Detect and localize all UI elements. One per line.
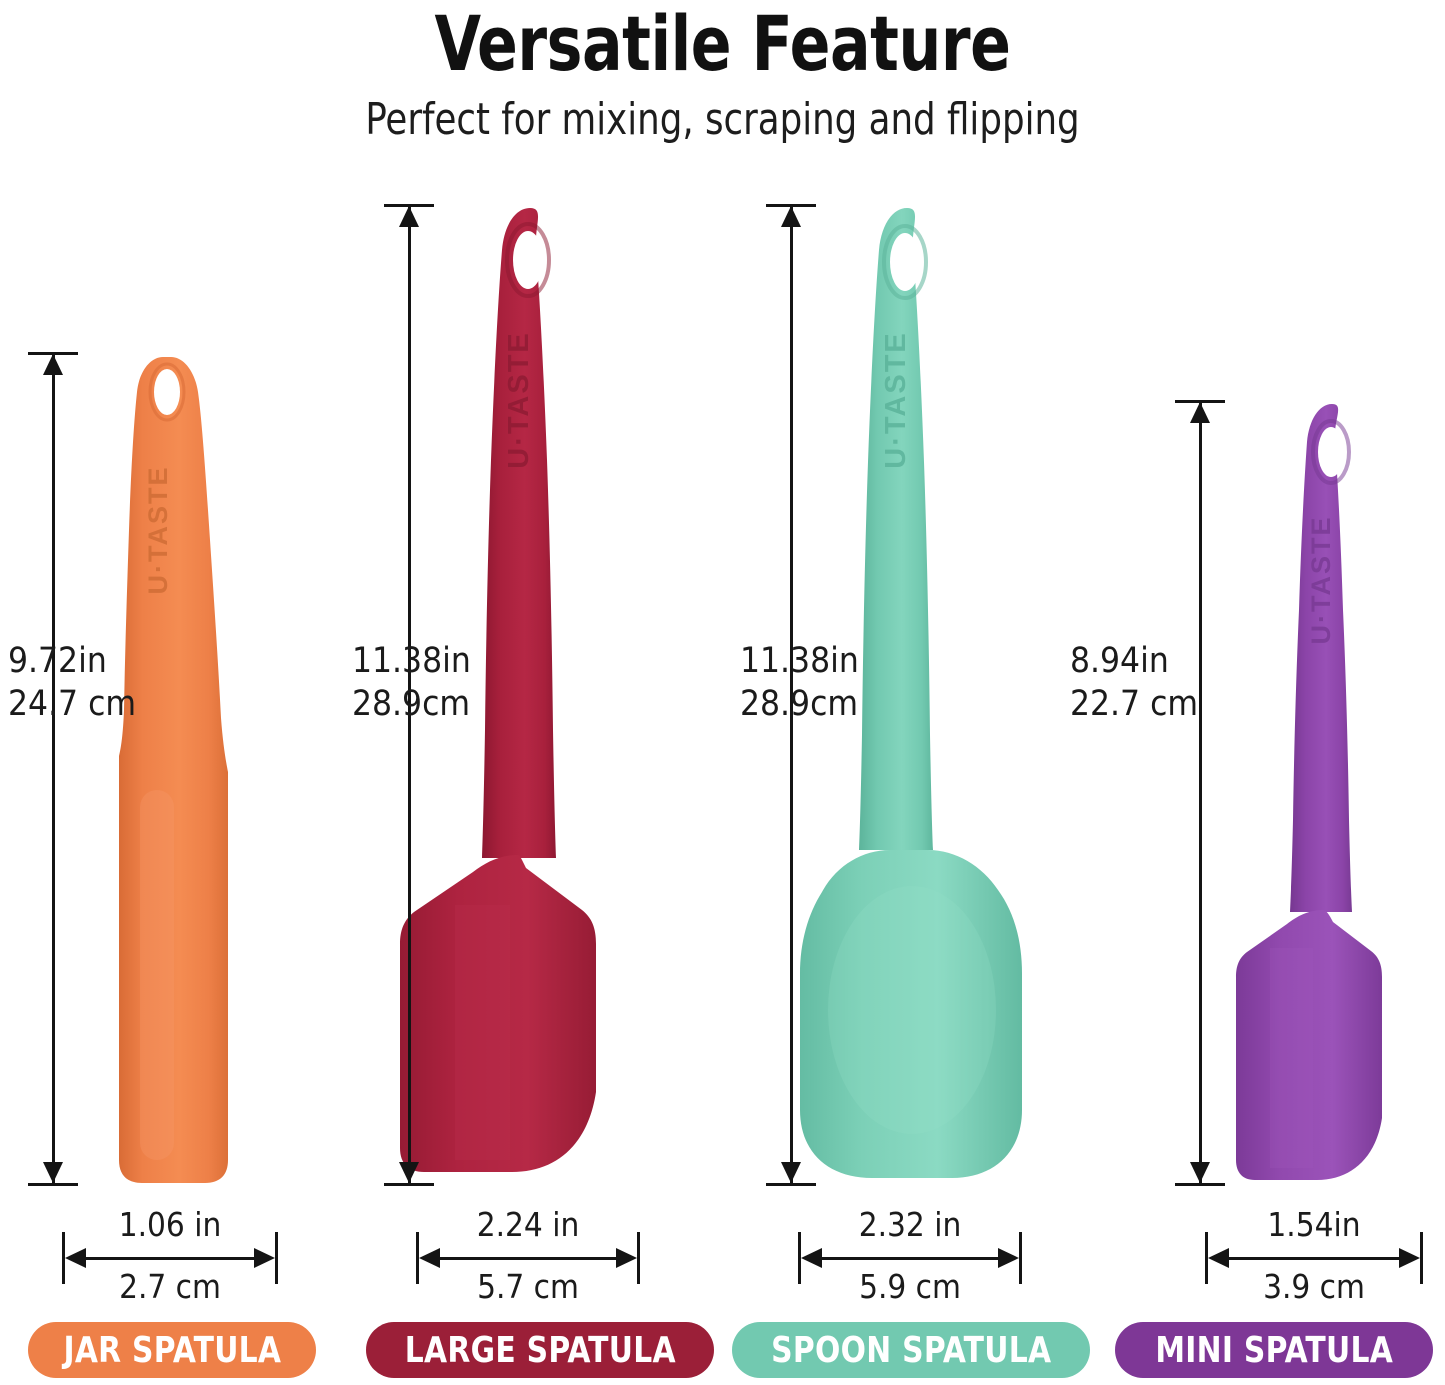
- jar-spatula-hanging-hole: [154, 369, 180, 415]
- mini-spatula-brand-emboss: U·TASTE: [1306, 516, 1336, 645]
- large-spatula-length-label: 11.38in 28.9cm: [352, 640, 471, 725]
- length-centimeters: 24.7 cm: [8, 683, 136, 726]
- product-comparison-row: U·TASTE 9.72in 24.7 cm 1.06 in 2.7 cm: [0, 0, 1445, 1385]
- spoon-spatula-highlight: [828, 886, 996, 1134]
- length-centimeters: 28.9cm: [352, 683, 471, 726]
- mini-spatula-hanging-hole: [1318, 427, 1344, 477]
- product-mini-spatula[interactable]: U·TASTE 8.94in 22.7 cm 1.54in 3.9 cm MIN…: [1095, 0, 1445, 1385]
- spoon-spatula-hanging-hole: [890, 233, 920, 291]
- dimension-line: [1199, 403, 1202, 1183]
- mini-spatula-highlight: [1270, 948, 1313, 1168]
- jar-spatula-highlight: [140, 790, 174, 1160]
- large-spatula-handle: [482, 208, 556, 858]
- jar-spatula-width-dimension: 1.06 in 2.7 cm: [62, 1212, 278, 1304]
- mini-spatula-width-dimension: 1.54in 3.9 cm: [1205, 1212, 1423, 1304]
- pill-label: LARGE SPATULA: [404, 1330, 675, 1371]
- width-inches: 1.06 in: [62, 1208, 278, 1241]
- dimension-cap-bottom: [766, 1183, 816, 1186]
- product-large-spatula[interactable]: U·TASTE 11.38in 28.9cm 2.24 in 5.7 cm LA…: [360, 0, 730, 1385]
- width-line: [432, 1257, 624, 1260]
- large-spatula-brand-emboss: U·TASTE: [503, 331, 535, 469]
- spoon-spatula-brand-emboss: U·TASTE: [880, 331, 912, 469]
- jar-spatula-length-label: 9.72in 24.7 cm: [8, 640, 136, 725]
- mini-spatula-length-label: 8.94in 22.7 cm: [1070, 640, 1198, 725]
- dimension-arrow-down: [1190, 1162, 1210, 1183]
- width-centimeters: 5.9 cm: [798, 1270, 1022, 1303]
- width-line: [1221, 1257, 1407, 1260]
- width-centimeters: 2.7 cm: [62, 1270, 278, 1303]
- large-spatula-hanging-hole: [513, 231, 543, 289]
- large-spatula-highlight: [455, 905, 510, 1160]
- length-inches: 8.94in: [1070, 640, 1198, 683]
- dimension-line: [52, 355, 55, 1183]
- width-centimeters: 5.7 cm: [416, 1270, 640, 1303]
- width-line: [78, 1257, 262, 1260]
- width-centimeters: 3.9 cm: [1205, 1270, 1423, 1303]
- length-inches: 9.72in: [8, 640, 136, 683]
- spoon-spatula-length-label: 11.38in 28.9cm: [740, 640, 859, 725]
- width-arrow-right: [616, 1248, 637, 1268]
- length-inches: 11.38in: [740, 640, 859, 683]
- large-spatula-width-dimension: 2.24 in 5.7 cm: [416, 1212, 640, 1304]
- pill-label: MINI SPATULA: [1155, 1330, 1393, 1371]
- pill-large-spatula[interactable]: LARGE SPATULA: [366, 1322, 714, 1378]
- dimension-cap-bottom: [28, 1183, 78, 1186]
- dimension-cap-bottom: [384, 1183, 434, 1186]
- spoon-spatula-width-dimension: 2.32 in 5.9 cm: [798, 1212, 1022, 1304]
- pill-label: JAR SPATULA: [63, 1330, 281, 1371]
- dimension-cap-bottom: [1175, 1183, 1225, 1186]
- product-spoon-spatula[interactable]: U·TASTE 11.38in 28.9cm 2.32 in 5.9 cm SP…: [730, 0, 1095, 1385]
- width-line: [814, 1257, 1006, 1260]
- length-inches: 11.38in: [352, 640, 471, 683]
- pill-label: SPOON SPATULA: [771, 1330, 1051, 1371]
- width-arrow-right: [1399, 1248, 1420, 1268]
- jar-spatula-brand-emboss: U·TASTE: [143, 466, 173, 595]
- width-inches: 1.54in: [1205, 1208, 1423, 1241]
- pill-spoon-spatula[interactable]: SPOON SPATULA: [732, 1322, 1090, 1378]
- dimension-arrow-down: [399, 1162, 419, 1183]
- spoon-spatula-handle: [859, 208, 933, 850]
- product-jar-spatula[interactable]: U·TASTE 9.72in 24.7 cm 1.06 in 2.7 cm: [0, 0, 360, 1385]
- pill-mini-spatula[interactable]: MINI SPATULA: [1115, 1322, 1433, 1378]
- length-centimeters: 28.9cm: [740, 683, 859, 726]
- dimension-arrow-down: [43, 1162, 63, 1183]
- length-centimeters: 22.7 cm: [1070, 683, 1198, 726]
- dimension-arrow-down: [781, 1162, 801, 1183]
- width-inches: 2.32 in: [798, 1208, 1022, 1241]
- width-inches: 2.24 in: [416, 1208, 640, 1241]
- width-arrow-right: [254, 1248, 275, 1268]
- width-arrow-right: [998, 1248, 1019, 1268]
- pill-jar-spatula[interactable]: JAR SPATULA: [28, 1322, 316, 1378]
